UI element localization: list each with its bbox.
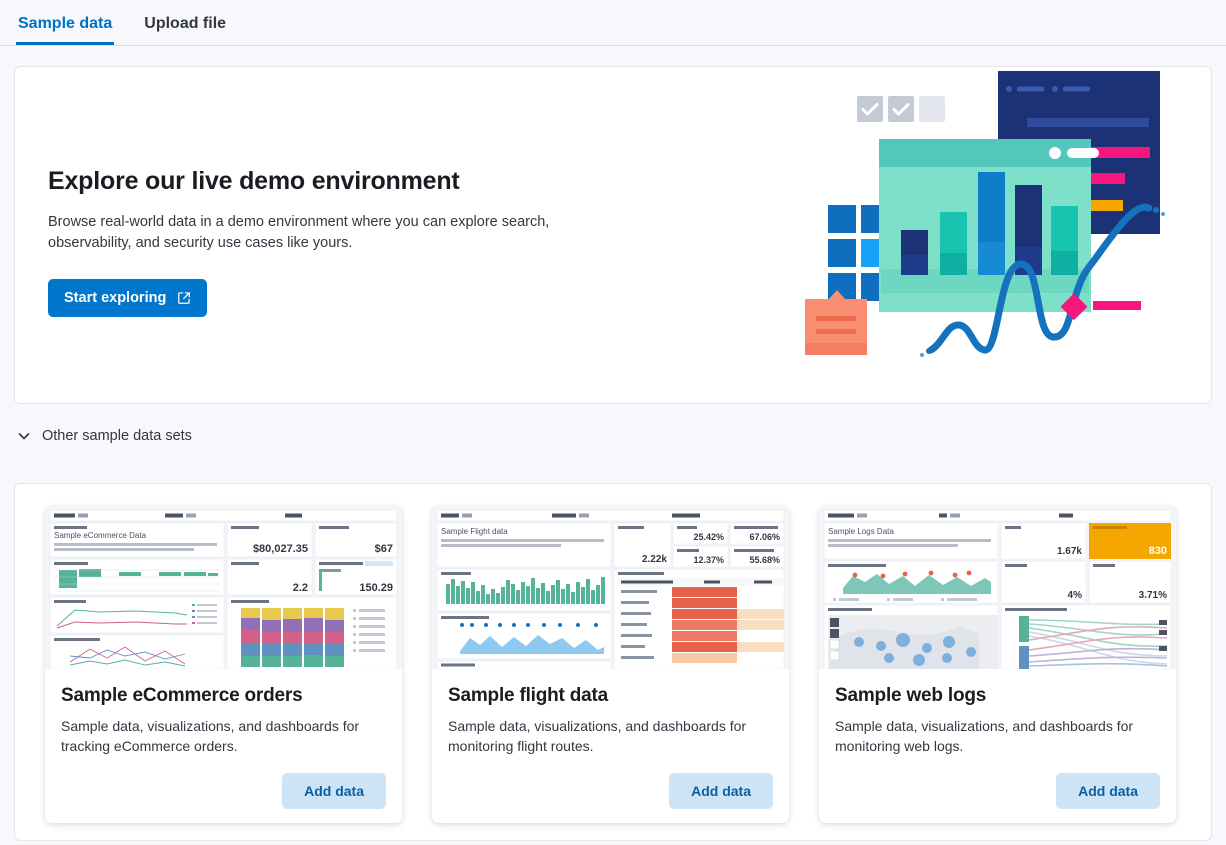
svg-text:25.42%: 25.42% <box>693 532 724 542</box>
svg-text:1.67k: 1.67k <box>1057 546 1082 557</box>
sample-data-sets-panel: Sample eCommerce Data $80,027.35 $67 <box>14 483 1212 841</box>
start-exploring-label: Start exploring <box>64 290 166 306</box>
weblogs-dashboard-thumbnail: Sample Logs Data 1.67k 830 <box>819 506 1176 669</box>
svg-text:$80,027.35: $80,027.35 <box>253 543 308 555</box>
other-sample-data-sets-label: Other sample data sets <box>42 428 192 444</box>
card-description: Sample data, visualizations, and dashboa… <box>448 716 773 757</box>
sample-data-card-weblogs[interactable]: Sample Logs Data 1.67k 830 <box>819 506 1176 823</box>
card-title: Sample eCommerce orders <box>61 685 386 707</box>
salmon-note-card <box>805 290 867 355</box>
hero-text-block: Explore our live demo environment Browse… <box>48 167 608 317</box>
hero-subtitle: Browse real-world data in a demo environ… <box>48 212 578 255</box>
add-data-button-weblogs[interactable]: Add data <box>1056 773 1160 809</box>
svg-text:Sample Flight data: Sample Flight data <box>441 527 508 536</box>
flight-dashboard-thumbnail: Sample Flight data 2.22k 25.42% 67.06% 1… <box>432 506 789 669</box>
svg-text:4%: 4% <box>1068 590 1083 601</box>
svg-text:150.29: 150.29 <box>359 582 393 594</box>
add-data-button-ecommerce[interactable]: Add data <box>282 773 386 809</box>
card-body: Sample web logs Sample data, visualizati… <box>819 669 1176 823</box>
card-description: Sample data, visualizations, and dashboa… <box>61 716 386 757</box>
add-data-button-flight[interactable]: Add data <box>669 773 773 809</box>
tab-bar: Sample data Upload file <box>0 0 1226 46</box>
card-footer: Add data <box>61 757 386 809</box>
svg-text:55.68%: 55.68% <box>749 555 780 565</box>
card-description: Sample data, visualizations, and dashboa… <box>835 716 1160 757</box>
ecommerce-dashboard-thumbnail: Sample eCommerce Data $80,027.35 $67 <box>45 506 402 669</box>
sample-data-card-list: Sample eCommerce Data $80,027.35 $67 <box>15 484 1211 845</box>
svg-text:3.71%: 3.71% <box>1139 590 1167 601</box>
svg-text:2.22k: 2.22k <box>642 554 667 565</box>
svg-text:12.37%: 12.37% <box>693 555 724 565</box>
other-sample-data-sets-toggle[interactable]: Other sample data sets <box>16 428 192 444</box>
checkbox-icons <box>857 96 945 122</box>
card-body: Sample flight data Sample data, visualiz… <box>432 669 789 823</box>
svg-text:67.06%: 67.06% <box>749 532 780 542</box>
sample-data-card-flight[interactable]: Sample Flight data 2.22k 25.42% 67.06% 1… <box>432 506 789 823</box>
svg-text:Sample eCommerce Data: Sample eCommerce Data <box>54 531 147 540</box>
tab-sample-data[interactable]: Sample data <box>16 16 114 45</box>
mint-dashboard-window <box>879 139 1099 312</box>
external-link-icon <box>177 291 191 305</box>
svg-text:Sample Logs Data: Sample Logs Data <box>828 527 894 536</box>
tab-upload-file[interactable]: Upload file <box>142 16 228 45</box>
sample-data-card-ecommerce[interactable]: Sample eCommerce Data $80,027.35 $67 <box>45 506 402 823</box>
demo-environment-panel: Explore our live demo environment Browse… <box>14 66 1212 404</box>
svg-text:$67: $67 <box>375 543 393 555</box>
card-title: Sample flight data <box>448 685 773 707</box>
card-title: Sample web logs <box>835 685 1160 707</box>
page-title: Explore our live demo environment <box>48 167 608 196</box>
card-footer: Add data <box>835 757 1160 809</box>
demo-environment-illustration <box>793 67 1193 404</box>
svg-text:830: 830 <box>1149 545 1167 557</box>
start-exploring-button[interactable]: Start exploring <box>48 279 207 317</box>
chevron-down-icon <box>16 428 32 444</box>
card-body: Sample eCommerce orders Sample data, vis… <box>45 669 402 823</box>
svg-text:2.2: 2.2 <box>293 582 308 594</box>
card-footer: Add data <box>448 757 773 809</box>
